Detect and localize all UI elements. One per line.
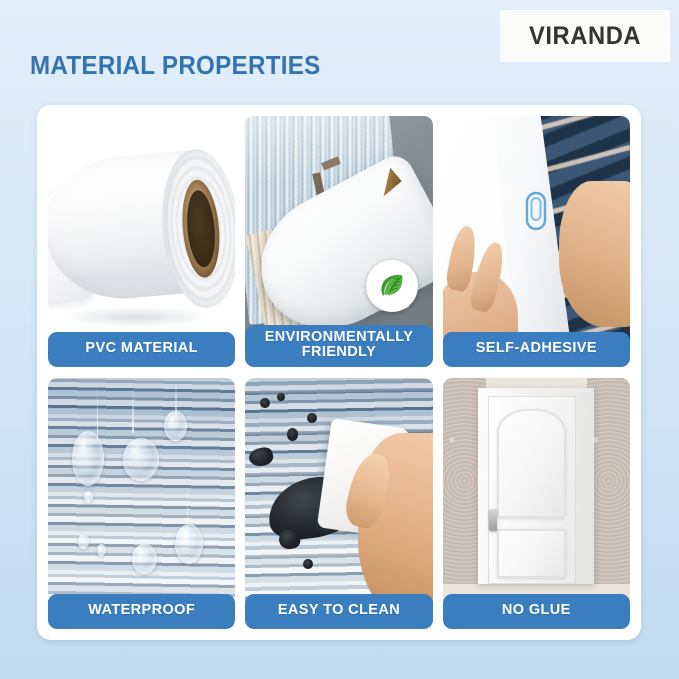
drop-trail-2 [132,388,134,433]
door-handle-icon [489,509,497,532]
feature-label-environmentally-friendly: ENVIRONMENTALLY FRIENDLY [245,325,432,367]
water-drop-2 [123,438,159,481]
feature-label-no-glue: NO GLUE [443,594,630,629]
ink-dot-6 [248,446,275,468]
eco-leaf-badge [366,260,418,312]
leaf-icon [375,269,409,303]
pvc-roll-icon [48,146,235,312]
feature-card-waterproof[interactable]: WATERPROOF [48,378,235,629]
door-leaf-shape [488,396,576,584]
water-drop-1 [72,431,104,486]
page-header: MATERIAL PROPERTIES VIRANDA [0,0,679,100]
roll-core-shape [178,178,223,279]
feature-card-self-adhesive[interactable]: SELF-ADHESIVE [443,116,630,367]
features-grid: PVC MATERIAL [48,116,630,629]
water-drop-3 [164,411,186,441]
no-glue-image [443,378,630,629]
water-drop-4 [175,524,203,564]
features-panel: PVC MATERIAL [37,105,641,640]
waterproof-image [48,378,235,629]
pvc-roll-image [48,116,235,367]
water-drop-5 [132,544,156,574]
self-adhesive-image [443,116,630,367]
roll-shadow [63,307,209,327]
drop-trail-1 [97,383,99,438]
feature-label-pvc-material: PVC MATERIAL [48,332,235,367]
door-panel-bottom-shape [497,529,566,578]
ink-dot-8 [303,559,312,569]
feature-label-self-adhesive: SELF-ADHESIVE [443,332,630,367]
feature-label-easy-to-clean: EASY TO CLEAN [245,594,432,629]
water-drop-7 [97,544,106,557]
brand-logo-text: VIRANDA [529,22,641,51]
feature-card-environmentally-friendly[interactable]: ENVIRONMENTALLY FRIENDLY [245,116,432,367]
water-drop-6 [78,534,89,549]
door-panel-top-shape [497,409,566,518]
feature-label-line-1: ENVIRONMENTALLY [249,330,428,346]
door-frame-shape [478,388,594,584]
paperclip-icon [525,191,547,231]
feature-card-pvc-material[interactable]: PVC MATERIAL [48,116,235,367]
water-drop-8 [84,491,93,504]
feature-label-waterproof: WATERPROOF [48,594,235,629]
page-title: MATERIAL PROPERTIES [30,50,321,81]
ink-dot-1 [260,398,269,408]
brand-logo: VIRANDA [500,10,670,62]
feature-card-easy-to-clean[interactable]: EASY TO CLEAN [245,378,432,629]
roll-core-hole-shape [184,189,217,268]
ink-dot-4 [287,428,298,441]
feature-card-no-glue[interactable]: NO GLUE [443,378,630,629]
roll-corner-tip-shape [371,167,401,197]
ink-dot-2 [277,393,284,401]
feature-label-line-2: FRIENDLY [249,345,428,361]
ink-dot-3 [307,413,316,423]
pier-beam-shape [321,156,341,170]
easy-to-clean-image [245,378,432,629]
